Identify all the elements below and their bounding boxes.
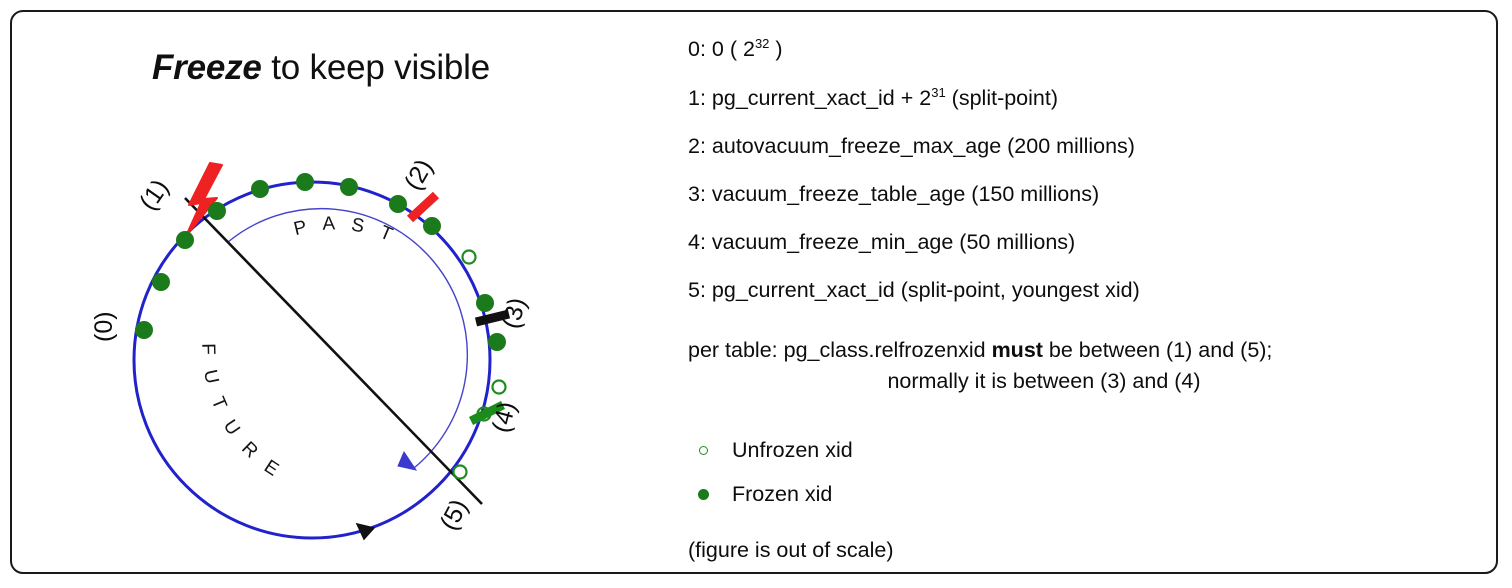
- tag-1: (1): [134, 174, 174, 215]
- marker-key: Unfrozen xid Frozen xid: [688, 434, 1480, 512]
- past-span-arrowhead: [398, 452, 416, 470]
- tag-5: (5): [435, 495, 474, 535]
- figure-frame: Freeze to keep visible P A S T F U T U R…: [10, 10, 1498, 574]
- legend-line-2: 2: autovacuum_freeze_max_age (200 millio…: [688, 134, 1480, 159]
- legend-line-5: 5: pg_current_xact_id (split-point, youn…: [688, 278, 1480, 303]
- tag-4: (4): [487, 399, 522, 436]
- per-table-second: normally it is between (3) and (4): [688, 366, 1400, 397]
- legend-line-1-sup: 31: [931, 85, 945, 100]
- tag-2: (2): [399, 155, 439, 195]
- xid-wraparound-diagram: P A S T F U T U R E: [12, 12, 672, 572]
- arc-label-future: F U T U R E: [197, 343, 287, 483]
- frozen-xid-marker: [688, 489, 718, 500]
- legend-line-0: 0: 0 ( 232 ): [688, 36, 1480, 62]
- unfrozen-xid-marker: [688, 446, 718, 455]
- legend-line-1-prefix: 1: pg_current_xact_id + 2: [688, 86, 931, 110]
- tick-2-autovacuum-freeze-max-age: [410, 195, 436, 219]
- key-row-unfrozen: Unfrozen xid: [688, 434, 1480, 468]
- per-table-bold: must: [992, 338, 1043, 362]
- legend-line-1: 1: pg_current_xact_id + 231 (split-point…: [688, 85, 1480, 111]
- wraparound-lightning-bolt: [186, 163, 222, 236]
- diagram-tags: (0) (1) (2) (3) (4) (5): [90, 155, 532, 535]
- past-span-arc: [228, 209, 467, 468]
- key-label-frozen: Frozen xid: [732, 482, 832, 507]
- key-row-frozen: Frozen xid: [688, 478, 1480, 512]
- key-label-unfrozen: Unfrozen xid: [732, 438, 853, 463]
- legend-line-4: 4: vacuum_freeze_min_age (50 millions): [688, 230, 1480, 255]
- legend-line-0-sup: 32: [755, 36, 769, 51]
- tag-0: (0): [90, 311, 118, 342]
- legend-line-1-suffix: (split-point): [946, 86, 1058, 110]
- legend-panel: 0: 0 ( 232 ) 1: pg_current_xact_id + 231…: [680, 36, 1480, 556]
- legend-line-0-suffix: ): [769, 37, 782, 61]
- per-table-pre: per table: pg_class.relfrozenxid: [688, 338, 992, 362]
- diagram-panel: Freeze to keep visible P A S T F U T U R…: [12, 12, 672, 572]
- tag-3: (3): [497, 295, 532, 332]
- legend-line-3: 3: vacuum_freeze_table_age (150 millions…: [688, 182, 1480, 207]
- per-table-post: be between (1) and (5);: [1043, 338, 1272, 362]
- per-table-note: per table: pg_class.relfrozenxid must be…: [688, 335, 1480, 397]
- figure-footnote: (figure is out of scale): [688, 538, 1480, 563]
- split-point-diagonal: [185, 198, 482, 504]
- unfrozen-xid-dots: [454, 251, 506, 479]
- legend-line-0-prefix: 0: 0 ( 2: [688, 37, 755, 61]
- arc-label-past: P A S T: [292, 213, 401, 248]
